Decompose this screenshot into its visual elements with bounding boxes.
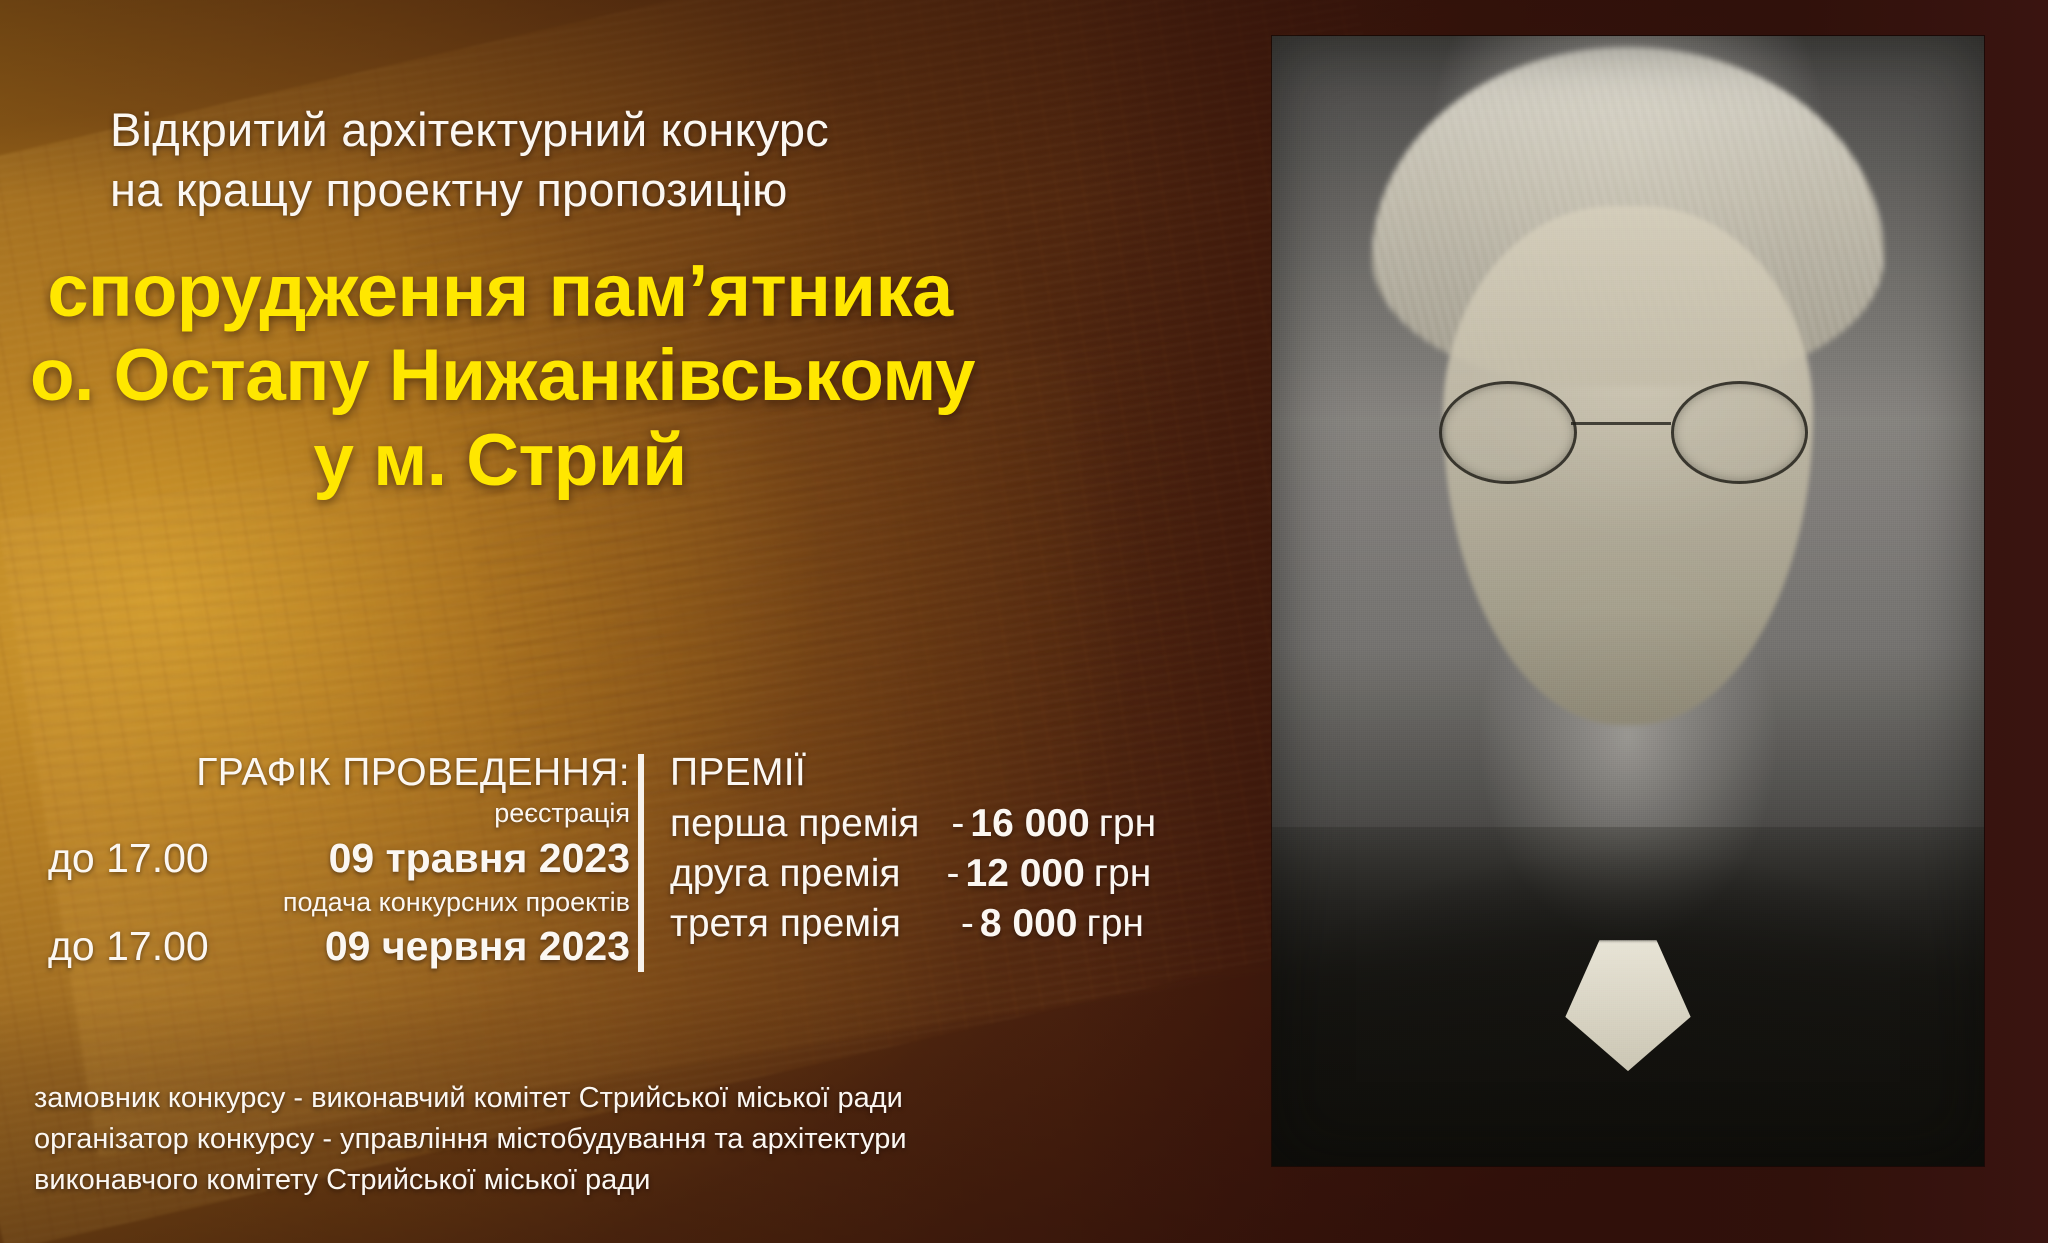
footer-line-2: організатор конкурсу - управління містоб…	[34, 1119, 934, 1160]
prize-amount-second: 12 000	[966, 849, 1085, 899]
schedule-row-registration: до 17.00 09 травня 2023	[30, 835, 630, 882]
schedule-time-registration: до 17.00	[48, 835, 209, 882]
poster-footer: замовник конкурсу - виконавчий комітет С…	[34, 1078, 934, 1202]
prize-dash-second: -	[941, 849, 966, 899]
schedule-row-submission: до 17.00 09 червня 2023	[30, 923, 630, 970]
details-section: ГРАФІК ПРОВЕДЕННЯ: реєстрація до 17.00 0…	[30, 752, 960, 982]
prize-currency-third: грн	[1077, 899, 1143, 949]
schedule-date-registration: 09 травня 2023	[329, 835, 630, 882]
headline-line-2: о. Остапу Нижанківському	[30, 334, 970, 419]
column-divider	[638, 754, 644, 972]
portrait-photo	[1272, 36, 1984, 1166]
headline-line-1: спорудження пам’ятника	[30, 248, 970, 334]
schedule-date-submission: 09 червня 2023	[325, 923, 630, 970]
prize-currency-first: грн	[1090, 799, 1156, 849]
headline-line-3: у м. Стрий	[30, 419, 970, 504]
subtitle-line-1: Відкритий архітектурний конкурс	[110, 103, 829, 156]
prizes-title: ПРЕМІЇ	[670, 752, 970, 795]
subtitle-line-2: на кращу проектну пропозицію	[110, 160, 990, 220]
poster-headline: спорудження пам’ятника о. Остапу Нижанкі…	[30, 248, 970, 503]
prize-row-second: друга премія - 12 000 грн	[670, 849, 970, 899]
prizes-column: ПРЕМІЇ перша премія - 16 000 грн друга п…	[670, 752, 970, 949]
schedule-time-submission: до 17.00	[48, 923, 209, 970]
prize-currency-second: грн	[1085, 849, 1151, 899]
portrait-edge-vignette	[1272, 36, 1984, 1166]
prize-dash-third: -	[955, 899, 980, 949]
schedule-caption-registration: реєстрація	[30, 793, 630, 834]
schedule-column: ГРАФІК ПРОВЕДЕННЯ: реєстрація до 17.00 0…	[30, 752, 630, 970]
prize-dash-first: -	[945, 799, 970, 849]
poster-canvas: Відкритий архітектурний конкурс на кращу…	[0, 0, 2048, 1243]
prize-label-third: третя премія	[670, 899, 901, 949]
prize-label-second: друга премія	[670, 849, 901, 899]
schedule-title: ГРАФІК ПРОВЕДЕННЯ:	[30, 752, 630, 793]
footer-line-3: виконавчого комітету Стрийської міської …	[34, 1160, 934, 1201]
footer-line-1: замовник конкурсу - виконавчий комітет С…	[34, 1078, 934, 1119]
prize-label-first: перша премія	[670, 799, 919, 849]
prize-amount-third: 8 000	[980, 899, 1078, 949]
prize-row-first: перша премія - 16 000 грн	[670, 799, 970, 849]
prize-row-third: третя премія - 8 000 грн	[670, 899, 970, 949]
schedule-caption-submission: подача конкурсних проектів	[30, 882, 630, 923]
prize-amount-first: 16 000	[970, 799, 1089, 849]
poster-subtitle: Відкритий архітектурний конкурс на кращу…	[110, 100, 990, 220]
